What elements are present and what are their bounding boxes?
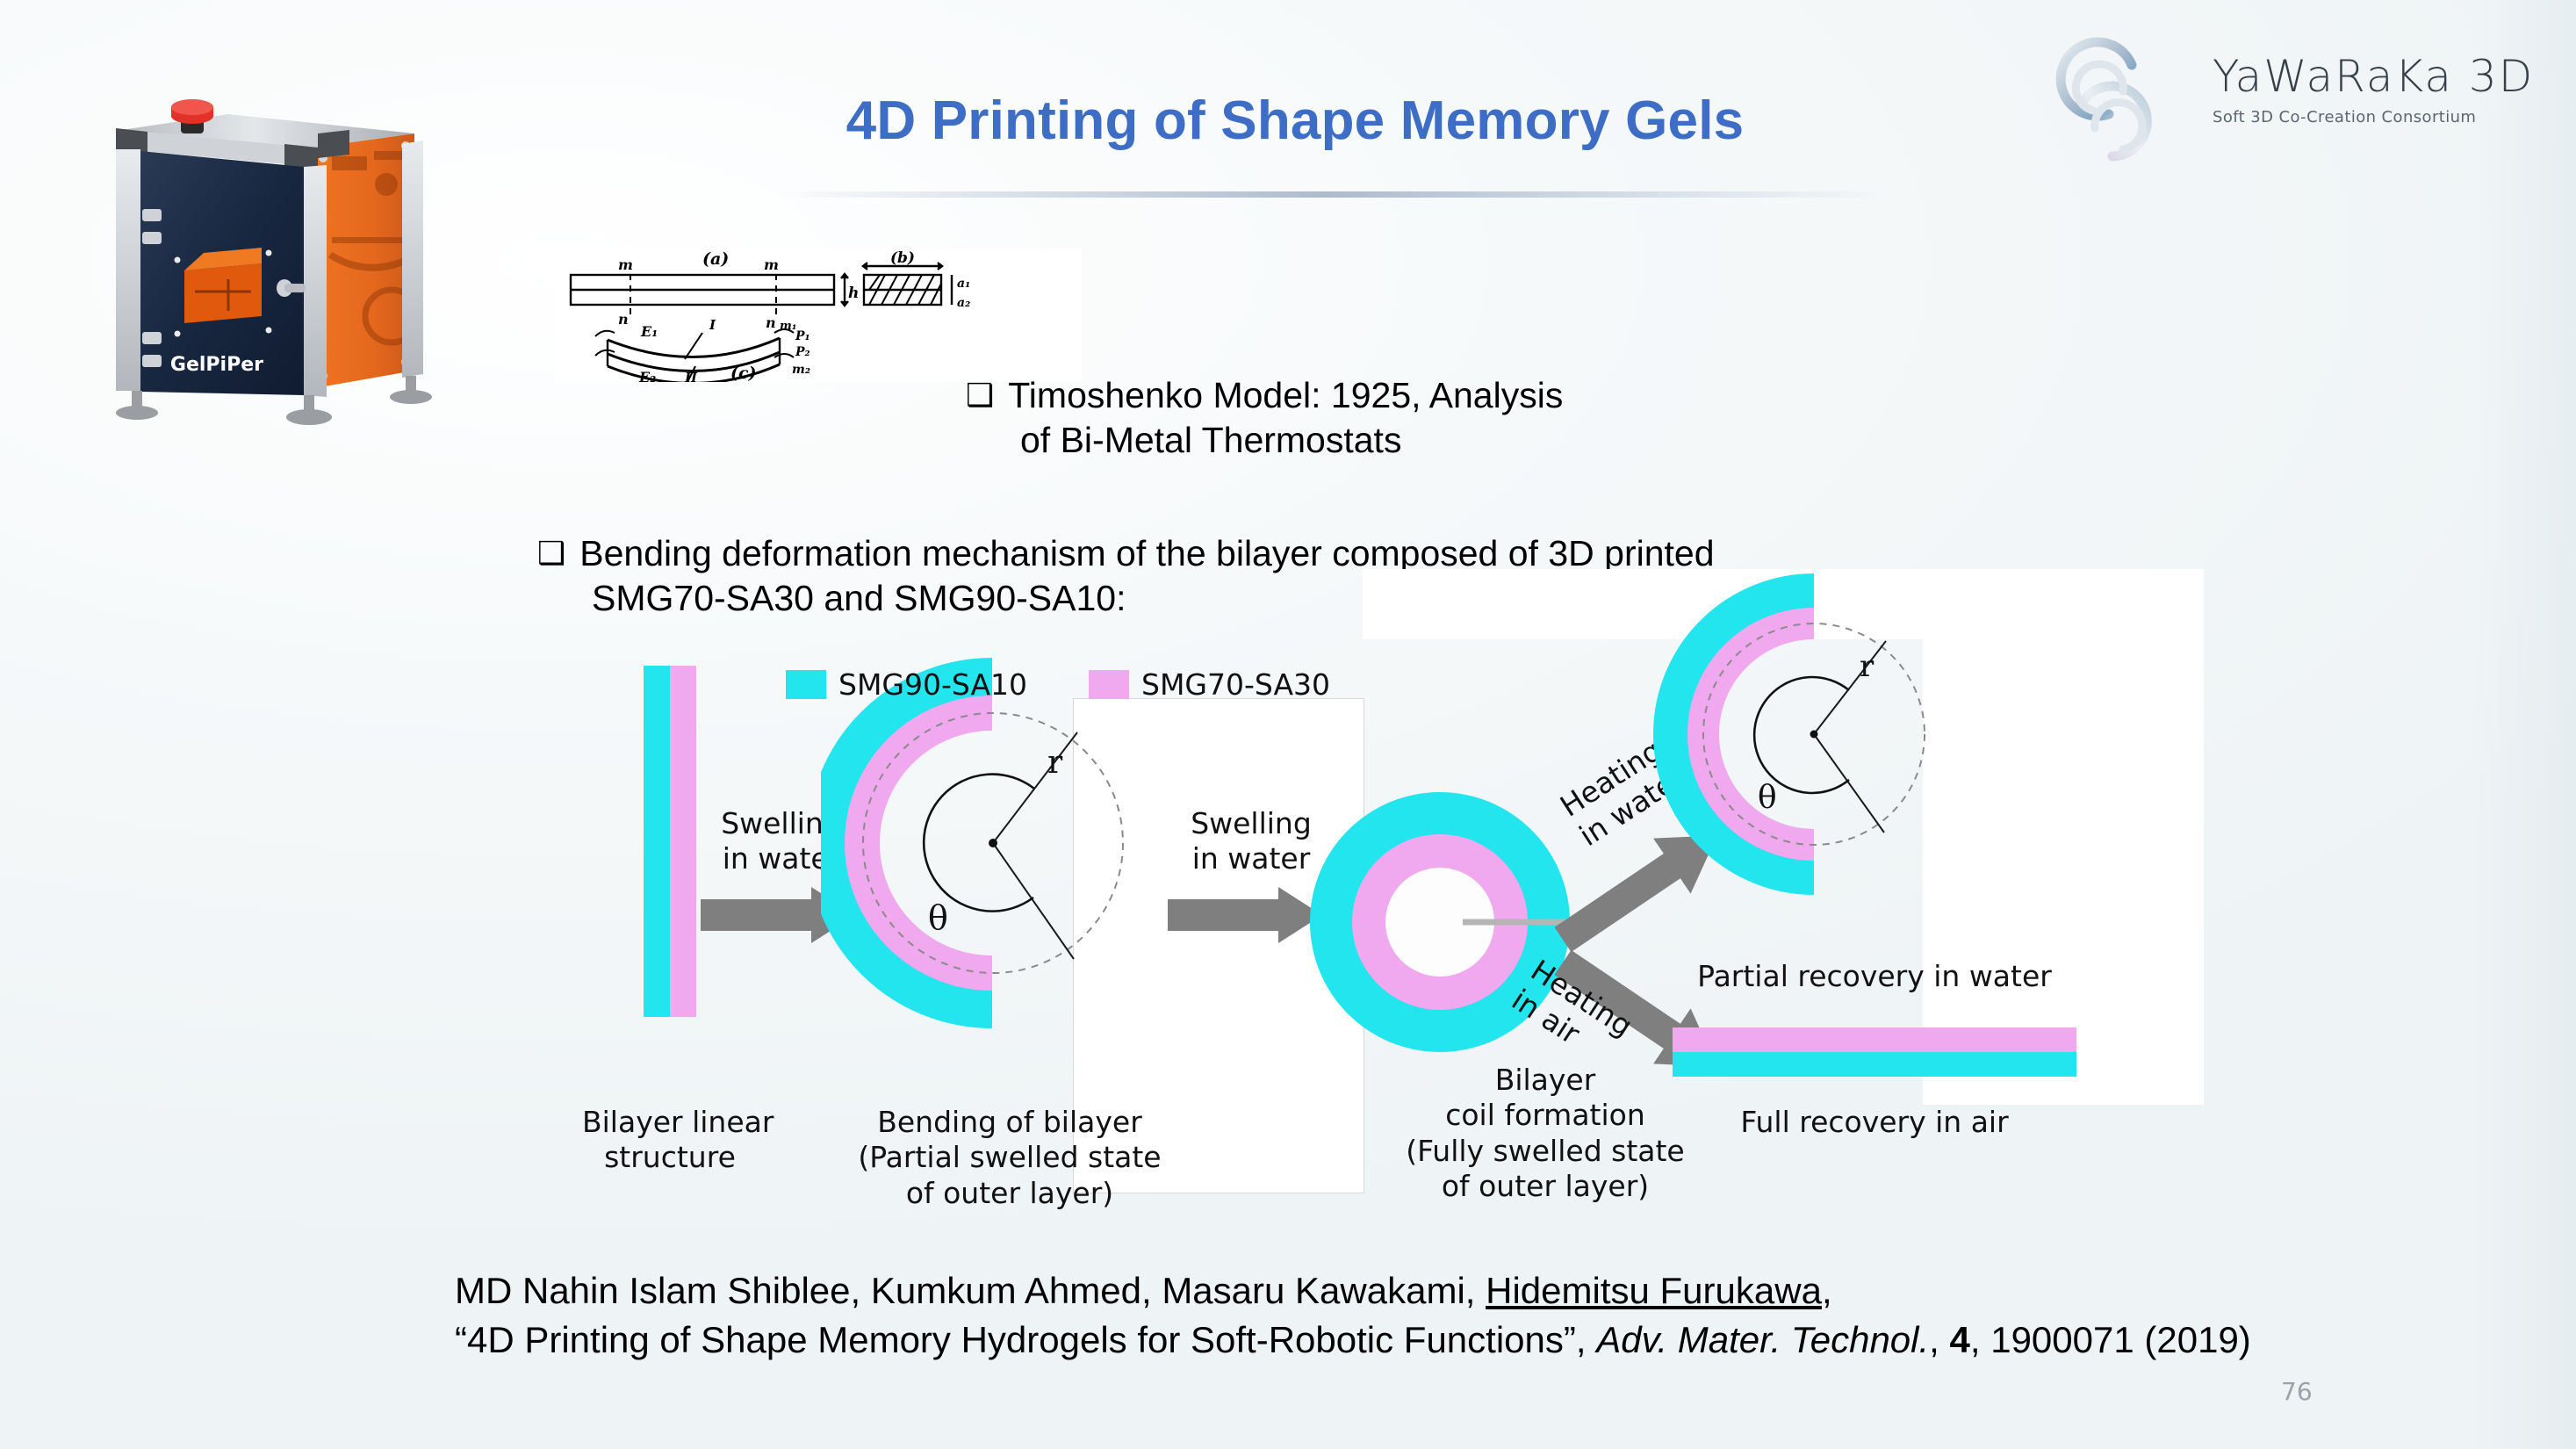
- timo-label-a: (a): [702, 249, 729, 269]
- full-recovery-pink-layer: [1673, 1027, 2076, 1052]
- legend-item-smg70: SMG70-SA30: [1089, 667, 1330, 702]
- full-recovery-cyan-layer: [1673, 1052, 2076, 1077]
- svg-text:n: n: [618, 311, 629, 328]
- svg-text:h: h: [848, 285, 859, 302]
- svg-text:P₂: P₂: [795, 345, 810, 359]
- citation-volume: 4: [1950, 1319, 1970, 1360]
- bullet-bending-line1: Bending deformation mechanism of the bil…: [579, 533, 1714, 573]
- stage2-caption-line1: Bending of bilayer: [877, 1105, 1142, 1139]
- bullet-square-icon: ❑: [966, 377, 994, 416]
- radius-label-1: r: [1047, 745, 1063, 781]
- background-edge-band: [2471, 0, 2576, 1449]
- stage3-caption-line3: (Fully swelled state: [1406, 1134, 1684, 1168]
- svg-text:m: m: [764, 256, 779, 273]
- timo-label-c: (c): [730, 364, 757, 382]
- slide-root: GelPiPer 4D Printing of Shape Memory Gel…: [0, 0, 2576, 1449]
- legend-item-smg90: SMG90-SA10: [786, 667, 1027, 702]
- svg-text:E₂: E₂: [638, 369, 656, 382]
- stage1-caption: Bilayer linear structure: [582, 1105, 758, 1176]
- svg-text:m₁: m₁: [780, 320, 796, 333]
- stage5-caption: Full recovery in air: [1673, 1105, 2076, 1140]
- stage3-caption-line2: coil formation: [1445, 1098, 1645, 1132]
- slide-title: 4D Printing of Shape Memory Gels: [645, 92, 1945, 149]
- svg-text:P₁: P₁: [795, 329, 810, 343]
- svg-text:a₂: a₂: [957, 296, 970, 310]
- citation-authors: MD Nahin Islam Shiblee, Kumkum Ahmed, Ma…: [455, 1270, 1486, 1311]
- partial-recovery-ring-figure: r θ: [1651, 569, 2002, 1008]
- citation-after-authors: ,: [1822, 1270, 1832, 1311]
- theta-label-1: θ: [928, 898, 948, 937]
- svg-text:a₁: a₁: [957, 277, 970, 291]
- slide-page-number: 76: [2281, 1377, 2313, 1406]
- legend-swatch-cyan: [786, 670, 826, 699]
- logo-tagline: Soft 3D Co-Creation Consortium: [2213, 108, 2555, 126]
- printer-brand-label: GelPiPer: [170, 354, 263, 376]
- svg-text:n: n: [766, 314, 776, 331]
- yawaraka3d-logo: YaWaRaKa 3D Soft 3D Co-Creation Consorti…: [2028, 18, 2555, 184]
- theta-label-2: θ: [1758, 780, 1777, 816]
- svg-text:I: I: [709, 317, 716, 333]
- svg-text:E₁: E₁: [640, 323, 658, 340]
- citation-comma: ,: [1929, 1319, 1949, 1360]
- timo-label-b: (b): [890, 249, 915, 267]
- bilayer-cyan-layer: [644, 666, 670, 1017]
- bullet-timoshenko: ❑Timoshenko Model: 1925, Analysis of Bi-…: [966, 373, 1896, 463]
- stage2-caption-line2: (Partial swelled state: [858, 1140, 1161, 1174]
- bullet-square-icon-2: ❑: [537, 535, 565, 574]
- arrow2-line2: in water: [1192, 841, 1311, 876]
- citation-journal: Adv. Mater. Technol.: [1596, 1319, 1929, 1360]
- inner-pink-arc: [862, 713, 992, 973]
- bullet-timoshenko-line2: of Bi-Metal Thermostats: [1020, 418, 1896, 463]
- stage4-caption: Partial recovery in water: [1673, 959, 2076, 994]
- svg-text:II: II: [684, 370, 698, 382]
- svg-text:m: m: [618, 256, 633, 273]
- bilayer-linear-bar: [644, 666, 696, 1017]
- logo-text-block: YaWaRaKa 3D Soft 3D Co-Creation Consorti…: [2213, 54, 2555, 126]
- bending-ring-figure: r θ: [821, 650, 1198, 1115]
- radius-label-2: r: [1860, 649, 1874, 684]
- stage1-caption-line2: structure: [604, 1140, 736, 1174]
- stage3-caption-line4: of outer layer): [1442, 1169, 1649, 1203]
- stage2-caption-line3: of outer layer): [906, 1176, 1113, 1210]
- material-legend: SMG90-SA10 SMG70-SA30: [786, 667, 1330, 702]
- legend-label-smg90: SMG90-SA10: [838, 667, 1027, 702]
- legend-swatch-pink: [1089, 670, 1129, 699]
- citation-paper-title: “4D Printing of Shape Memory Hydrogels f…: [455, 1319, 1596, 1360]
- title-divider: [773, 191, 1883, 198]
- gelpiper-printer-image: GelPiPer: [97, 53, 457, 439]
- stage2-caption: Bending of bilayer (Partial swelled stat…: [808, 1105, 1212, 1211]
- stage1-caption-line1: Bilayer linear: [582, 1105, 774, 1139]
- full-recovery-bar: [1673, 1027, 2076, 1077]
- bilayer-pink-layer: [670, 666, 696, 1017]
- logo-name: YaWaRaKa 3D: [2213, 54, 2555, 98]
- bullet-timoshenko-line1: Timoshenko Model: 1925, Analysis: [1008, 375, 1563, 415]
- citation-block: MD Nahin Islam Shiblee, Kumkum Ahmed, Ma…: [455, 1266, 2351, 1365]
- citation-rest: , 1900071 (2019): [1970, 1319, 2251, 1360]
- timoshenko-figure: (a) (b) (c) m m n n h a₁ a₂ E₁ E₂ I II P…: [555, 249, 1082, 382]
- logo-swirl-icon: [2028, 18, 2204, 184]
- arrow2-line1: Swelling: [1191, 806, 1312, 840]
- svg-text:m₂: m₂: [792, 363, 810, 377]
- legend-label-smg70: SMG70-SA30: [1141, 667, 1330, 702]
- citation-author-underlined: Hidemitsu Furukawa: [1486, 1270, 1822, 1311]
